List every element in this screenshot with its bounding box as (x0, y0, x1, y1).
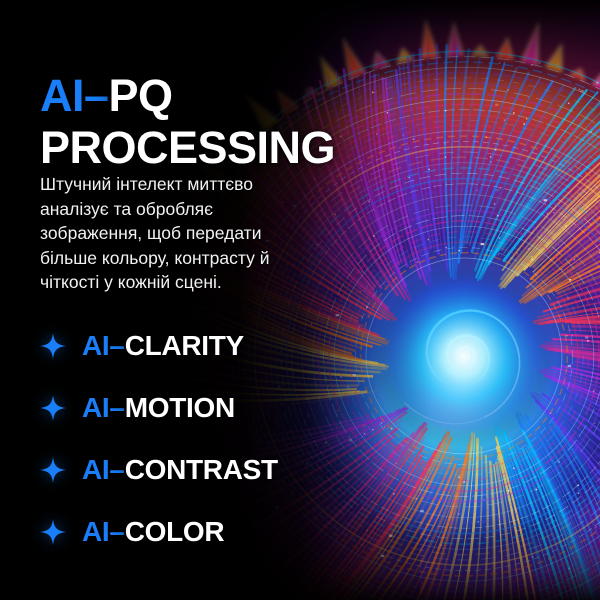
feature-label: AI–CONTRAST (82, 454, 278, 486)
list-item: AI–CONTRAST (40, 439, 278, 501)
poster-content: AI–PQ PROCESSING Штучний інтелект миттєв… (0, 0, 600, 600)
feature-name: CLARITY (125, 330, 244, 361)
description-line: більше кольору, контрасту й (40, 246, 340, 271)
feature-prefix: AI– (82, 392, 125, 423)
feature-label: AI–CLARITY (82, 330, 244, 362)
feature-prefix: AI– (82, 516, 125, 547)
sparkle-star-icon (40, 457, 66, 483)
description-line: чіткості у кожній сцені. (40, 270, 340, 295)
sparkle-star-icon (40, 333, 66, 359)
feature-name: COLOR (125, 516, 225, 547)
feature-prefix: AI– (82, 454, 125, 485)
feature-label: AI–COLOR (82, 516, 224, 548)
description-line: зображення, щоб передати (40, 221, 340, 246)
list-item: AI–MOTION (40, 377, 278, 439)
description-line: аналізує та обробляє (40, 197, 340, 222)
feature-name: CONTRAST (125, 454, 278, 485)
feature-label: AI–MOTION (82, 392, 235, 424)
page-title: AI–PQ PROCESSING (40, 70, 335, 174)
poster-canvas: AI–PQ PROCESSING Штучний інтелект миттєв… (0, 0, 600, 600)
feature-list: AI–CLARITY AI–MOTION AI–CONTRAST AI–COLO… (40, 315, 278, 563)
description-paragraph: Штучний інтелект миттєво аналізує та обр… (40, 172, 340, 295)
description-line: Штучний інтелект миттєво (40, 172, 340, 197)
sparkle-star-icon (40, 519, 66, 545)
list-item: AI–CLARITY (40, 315, 278, 377)
sparkle-star-icon (40, 395, 66, 421)
list-item: AI–COLOR (40, 501, 278, 563)
feature-prefix: AI– (82, 330, 125, 361)
title-accent-prefix: AI– (40, 70, 109, 121)
title-line1-rest: PQ (109, 70, 173, 121)
feature-name: MOTION (125, 392, 235, 423)
title-line2: PROCESSING (40, 122, 335, 173)
